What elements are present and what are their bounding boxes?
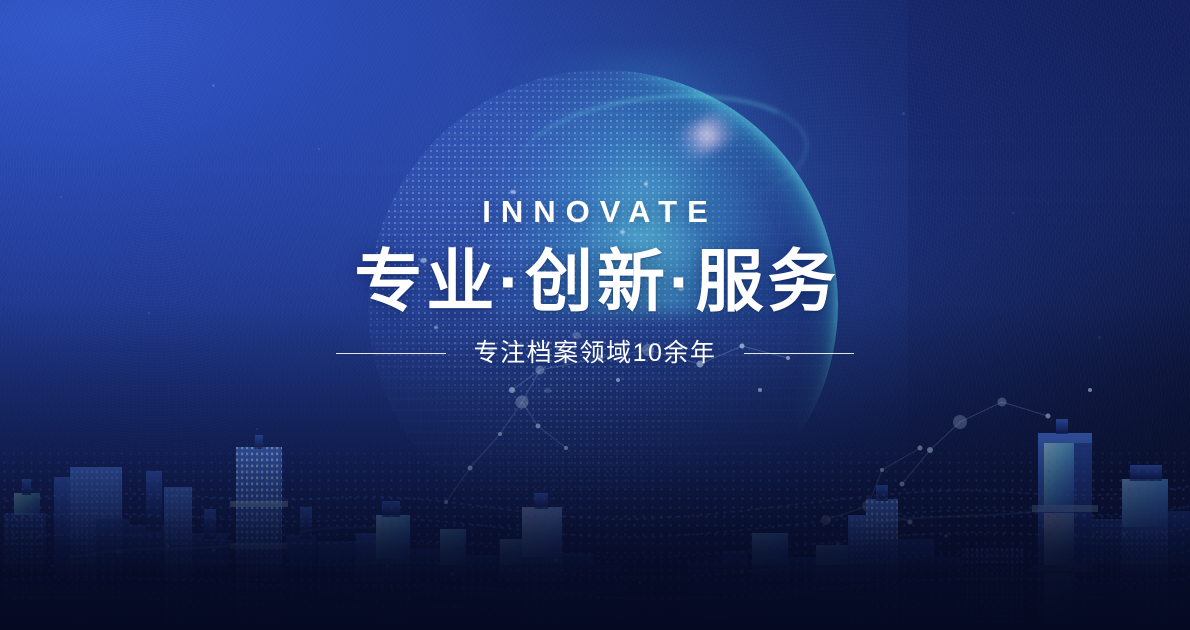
dot-matrix-wave-terrain (0, 440, 1190, 630)
terrain-bottom-fade (0, 440, 1190, 630)
hero-banner: INNOVATE 专业·创新·服务 专注档案领域10余年 (0, 0, 1190, 630)
